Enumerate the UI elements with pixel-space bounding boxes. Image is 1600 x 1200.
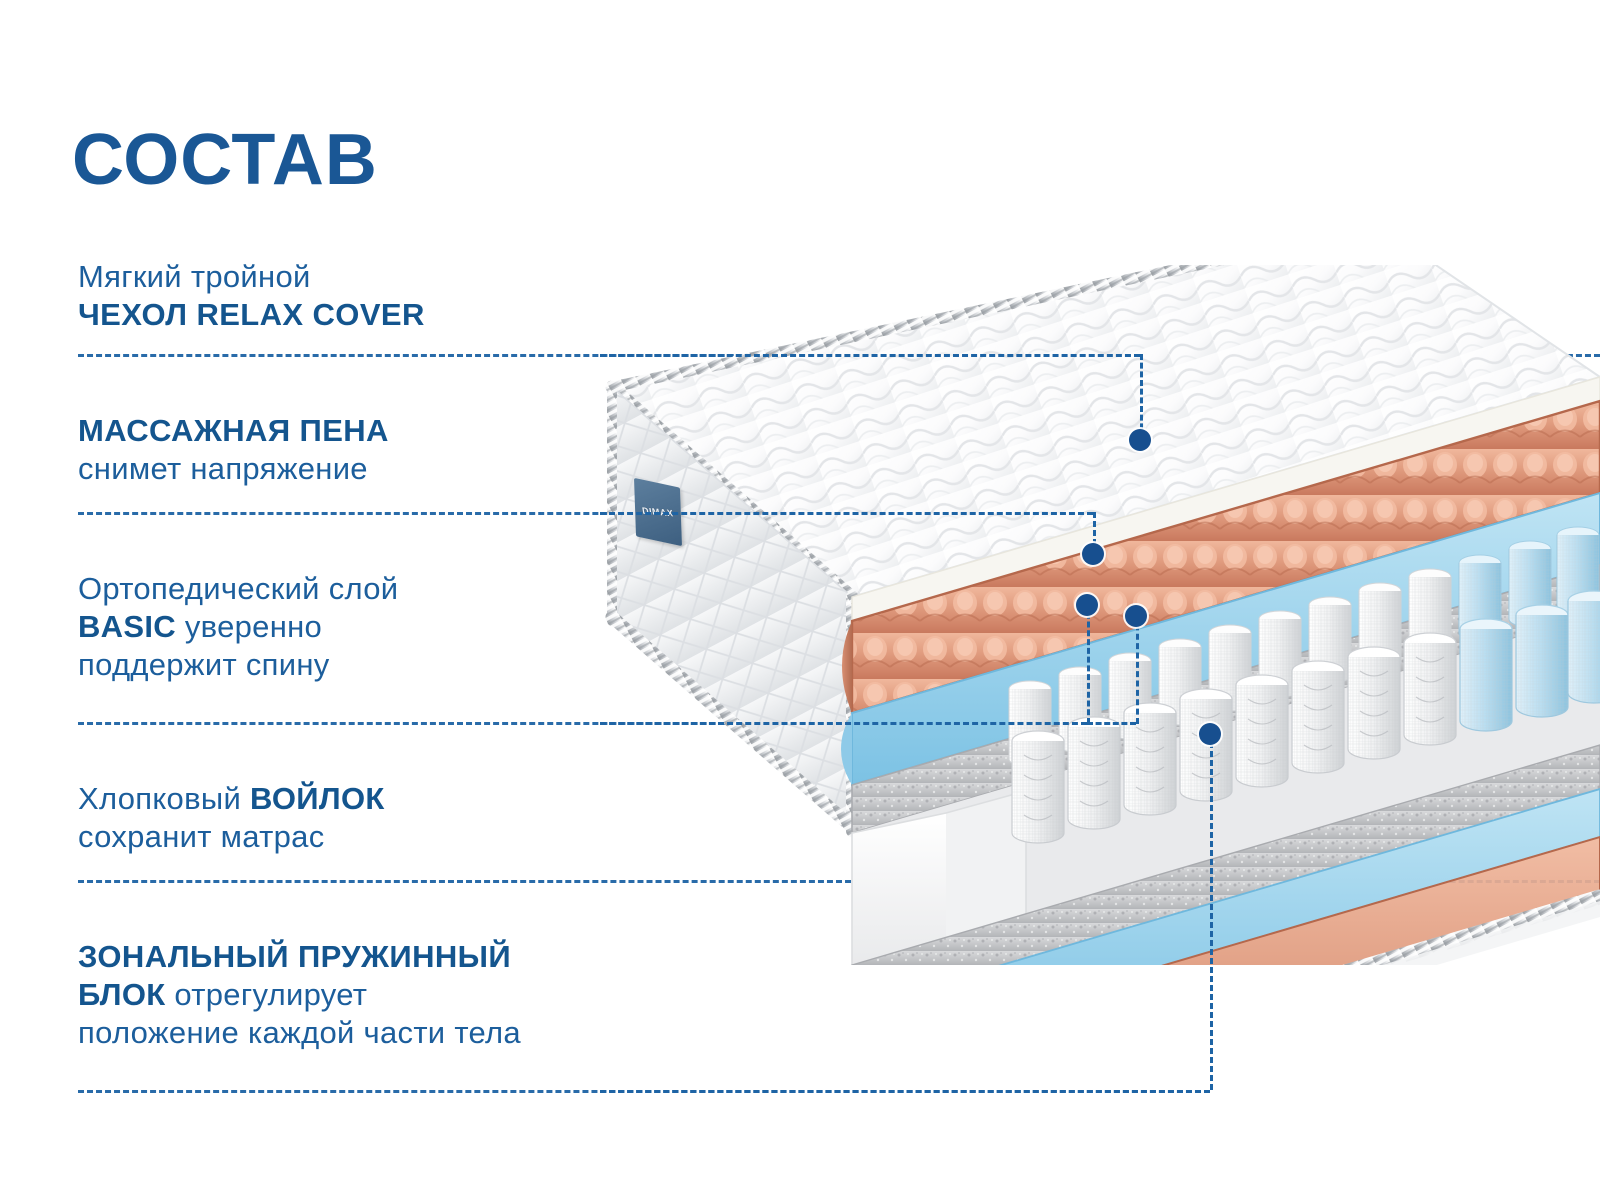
leader-line-massage-foam [600, 512, 1093, 515]
feature-line: МАССАЖНАЯ ПЕНА [78, 412, 389, 450]
feature-line: БЛОК отрегулирует [78, 976, 521, 1014]
leader-line-basic [600, 722, 1087, 725]
feature-line: снимет напряжение [78, 450, 389, 488]
page-title: СОСТАВ [72, 124, 378, 196]
leader-line-relax-cover-v [1140, 354, 1143, 438]
feature-rest: отрегулирует [166, 977, 368, 1012]
feature-line: Ортопедический слой [78, 570, 398, 608]
mattress-cutaway-illustration: DIMAX [560, 265, 1600, 965]
feature-line: BASIC уверенно [78, 608, 398, 646]
callout-dot-relax-cover[interactable] [1129, 429, 1151, 451]
feature-line: Мягкий тройной [78, 258, 425, 296]
leader-line-spring-block-v [1210, 733, 1213, 1090]
feature-emphasis: БЛОК [78, 977, 166, 1012]
feature-line: поддержит спину [78, 646, 398, 684]
leader-line-felt-v [1136, 615, 1139, 724]
callout-dot-basic[interactable] [1076, 594, 1098, 616]
feature-line: сохранит матрас [78, 818, 385, 856]
feature-zonal-spring-block: ЗОНАЛЬНЫЙ ПРУЖИННЫЙ БЛОК отрегулирует по… [78, 938, 521, 1051]
callout-dot-massage-foam[interactable] [1082, 543, 1104, 565]
callout-dot-spring-block[interactable] [1199, 723, 1221, 745]
leader-line-spring-block [600, 1090, 1210, 1093]
feature-massage-foam: МАССАЖНАЯ ПЕНА снимет напряжение [78, 412, 389, 488]
feature-rest: уверенно [176, 609, 322, 644]
feature-line: ЧЕХОЛ RELAX COVER [78, 296, 425, 334]
feature-line: ЗОНАЛЬНЫЙ ПРУЖИННЫЙ [78, 938, 521, 976]
leader-line-basic-v [1087, 604, 1090, 724]
feature-emphasis: ВОЙЛОК [250, 781, 385, 816]
feature-relax-cover: Мягкий тройной ЧЕХОЛ RELAX COVER [78, 258, 425, 334]
feature-basic-layer: Ортопедический слой BASIC уверенно подде… [78, 570, 398, 683]
feature-emphasis: BASIC [78, 609, 176, 644]
feature-line: положение каждой части тела [78, 1014, 521, 1052]
callout-dot-felt[interactable] [1125, 605, 1147, 627]
leader-line-relax-cover [600, 354, 1140, 357]
feature-cotton-felt: Хлопковый ВОЙЛОК сохранит матрас [78, 780, 385, 856]
composition-infographic: СОСТАВ Мягкий тройной ЧЕХОЛ RELAX COVER … [0, 0, 1600, 1200]
leader-line-felt [1087, 722, 1136, 725]
feature-line: Хлопковый ВОЙЛОК [78, 780, 385, 818]
feature-prefix: Хлопковый [78, 781, 250, 816]
